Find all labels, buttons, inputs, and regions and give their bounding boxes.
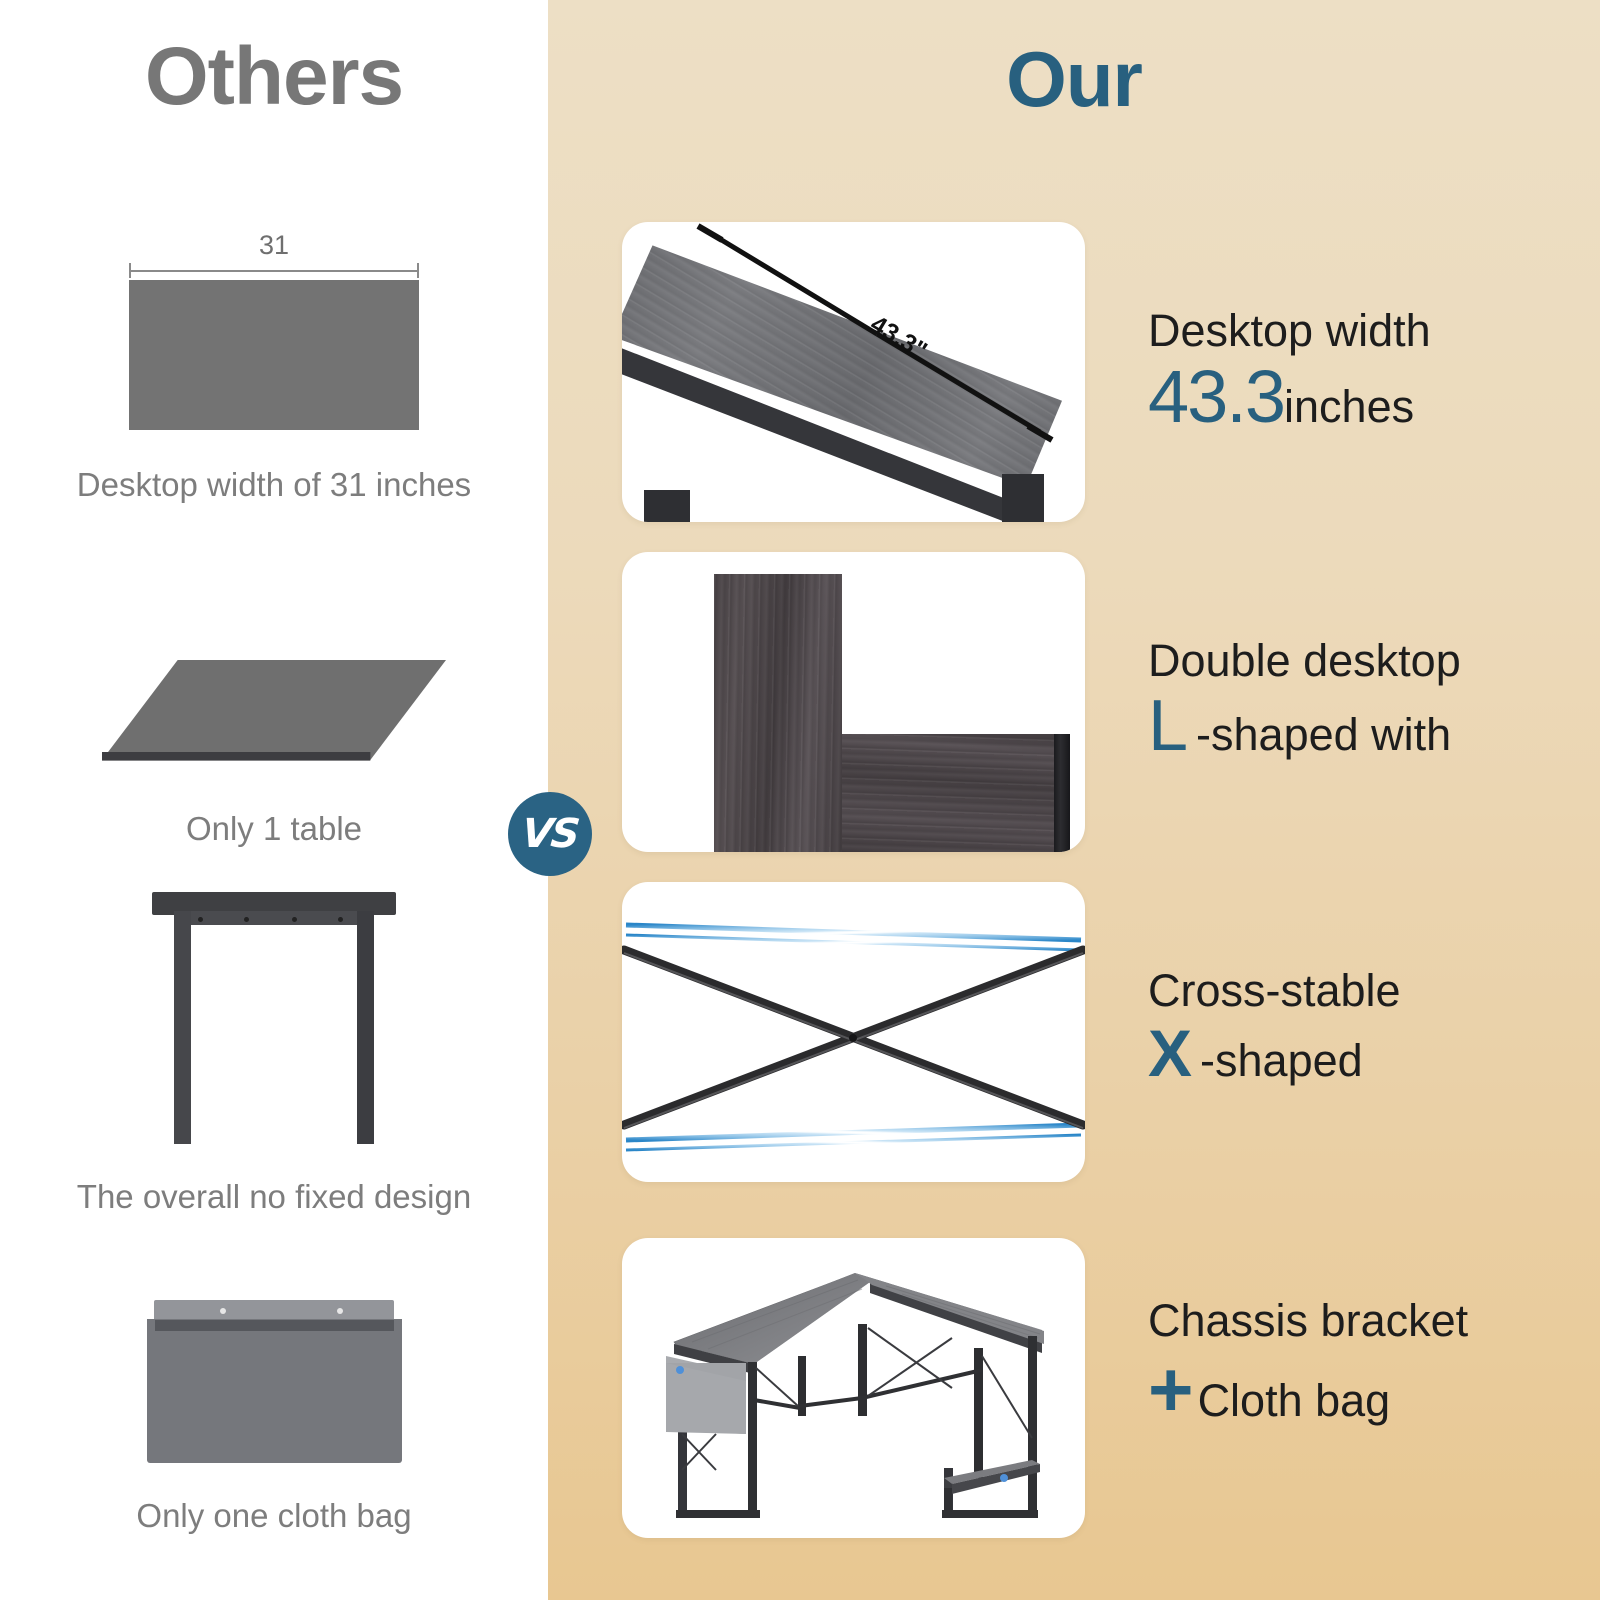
leg-frame-apron	[174, 911, 374, 925]
desktop-width-value: 43.3	[1148, 362, 1284, 432]
l-board-end-cap	[1054, 734, 1070, 852]
grey-desktop-rectangle	[129, 280, 419, 430]
screw-hole	[338, 917, 343, 922]
board-top-face	[102, 660, 446, 760]
others-item-single-table: Only 1 table	[0, 660, 548, 848]
dimension-line	[129, 263, 419, 277]
others-item-cloth-bag: Only one cloth bag	[0, 1300, 548, 1535]
bag-eyelet	[337, 1308, 343, 1314]
caption-single-table: Only 1 table	[0, 810, 548, 848]
plus-glyph: +	[1148, 1352, 1194, 1426]
dimension-line-graphic	[622, 222, 1085, 522]
woodgrain-horizontal	[842, 734, 1062, 852]
dimension-tick-right	[417, 263, 419, 278]
screw-hole	[292, 917, 297, 922]
board-front-edge	[102, 752, 446, 766]
our-card-desktop-width: 43.3"	[622, 222, 1085, 522]
caption-cloth-bag: Only one cloth bag	[0, 1497, 548, 1535]
screw-hole	[244, 917, 249, 922]
chassis-bracket-extra-row: + Cloth bag	[1148, 1352, 1578, 1426]
others-item-no-fixed-design: The overall no fixed design	[0, 892, 548, 1216]
double-desktop-headline: Double desktop	[1148, 636, 1578, 686]
screw-hole	[198, 917, 203, 922]
our-text-desktop-width: Desktop width 43.3 inches	[1148, 306, 1578, 433]
cross-bars-graphic	[622, 882, 1085, 1182]
flat-board-graphic	[102, 660, 446, 772]
l-board-vertical	[714, 574, 842, 852]
bag-eyelet	[220, 1308, 226, 1314]
cloth-bag-graphic	[147, 1300, 402, 1463]
our-text-cross-stable: Cross-stable X -shaped	[1148, 966, 1578, 1087]
others-heading: Others	[0, 36, 548, 118]
leg-left	[174, 911, 191, 1144]
desktop-width-headline: Desktop width	[1148, 306, 1578, 356]
bag-body	[147, 1319, 402, 1463]
others-item-desktop-width: 31 Desktop width of 31 inches	[0, 232, 548, 504]
bag-inner-shadow	[155, 1320, 394, 1331]
cross-stable-subtext: -shaped	[1200, 1036, 1363, 1086]
leg-right	[357, 911, 374, 1144]
l-board-horizontal	[842, 734, 1062, 852]
dimension-graphic: 31	[129, 232, 419, 430]
our-text-double-desktop: Double desktop L -shaped with	[1148, 636, 1578, 761]
desktop-width-unit: inches	[1284, 382, 1414, 432]
our-card-double-desktop	[622, 552, 1085, 852]
dimension-value-label: 31	[129, 232, 419, 259]
chassis-bracket-headline: Chassis bracket	[1148, 1296, 1578, 1346]
woodgrain-vertical	[714, 574, 842, 852]
leg-frame-graphic	[174, 892, 374, 1144]
caption-desktop-width: Desktop width of 31 inches	[0, 466, 548, 504]
caption-no-fixed-design: The overall no fixed design	[0, 1178, 548, 1216]
our-heading: Our	[548, 40, 1600, 118]
our-text-chassis-bracket: Chassis bracket + Cloth bag	[1148, 1296, 1578, 1427]
cloth-bag-subtext: Cloth bag	[1198, 1376, 1391, 1426]
cross-stable-shape-row: X -shaped	[1148, 1022, 1578, 1086]
infographic-canvas: Others Our 31 Desktop width of 31 inches…	[0, 0, 1600, 1600]
double-desktop-subtext: -shaped with	[1196, 710, 1451, 760]
cross-stable-headline: Cross-stable	[1148, 966, 1578, 1016]
l-desk-graphic	[622, 1238, 1085, 1538]
desktop-width-value-row: 43.3 inches	[1148, 362, 1578, 432]
our-card-cross-stable	[622, 882, 1085, 1182]
l-shape-glyph: L	[1148, 692, 1188, 760]
vs-badge-label: VS	[520, 811, 581, 857]
double-desktop-shape-row: L -shaped with	[1148, 692, 1578, 760]
x-shape-glyph: X	[1148, 1022, 1192, 1085]
dimension-tick-left	[129, 263, 131, 278]
our-card-chassis-bracket	[622, 1238, 1085, 1538]
vs-badge: VS	[508, 792, 592, 876]
